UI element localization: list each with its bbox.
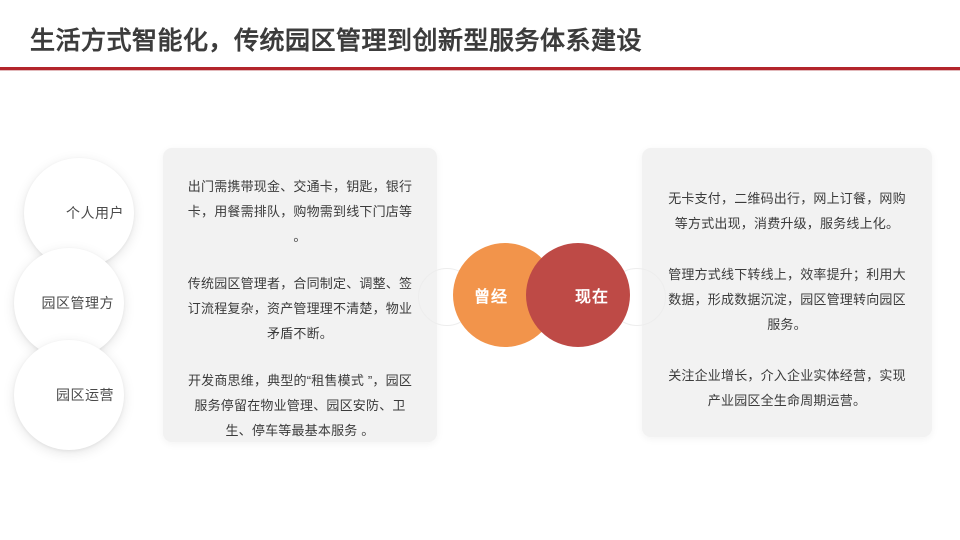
role-label: 园区运营	[56, 385, 114, 405]
role-label: 个人用户	[66, 203, 124, 223]
panel-now-paragraph: 管理方式线下转线上，效率提升；利用大数据，形成数据沉淀，园区管理转向园区服务。	[664, 262, 910, 337]
panel-past-paragraph: 出门需携带现金、交通卡，钥匙，银行卡，用餐需排队，购物需到线下门店等 。	[185, 174, 415, 249]
venn-circle-now[interactable]: 现在	[526, 243, 630, 347]
venn-label-past: 曾经	[474, 283, 508, 307]
role-circle-park-operation[interactable]: 园区运营	[14, 340, 124, 450]
panel-now-paragraph: 关注企业增长，介入企业实体经营，实现产业园区全生命周期运营。	[664, 363, 910, 413]
page-title: 生活方式智能化，传统园区管理到创新型服务体系建设	[30, 24, 642, 58]
panel-past-paragraph: 传统园区管理者，合同制定、调整、签订流程复杂，资产管理理不清楚，物业矛盾不断。	[185, 271, 415, 346]
role-label: 园区管理方	[42, 293, 115, 313]
title-divider-soft	[0, 70, 960, 71]
venn-label-now: 现在	[575, 283, 609, 307]
slide-canvas: 生活方式智能化，传统园区管理到创新型服务体系建设 个人用户 园区管理方 园区运营…	[0, 0, 960, 540]
panel-now-paragraph: 无卡支付，二维码出行，网上订餐，网购等方式出现，消费升级，服务线上化。	[664, 186, 910, 236]
panel-past-paragraph: 开发商思维，典型的“租售模式 ”，园区服务停留在物业管理、园区安防、卫生、停车等…	[185, 368, 415, 443]
panel-now: 无卡支付，二维码出行，网上订餐，网购等方式出现，消费升级，服务线上化。 管理方式…	[642, 148, 932, 437]
panel-past: 出门需携带现金、交通卡，钥匙，银行卡，用餐需排队，购物需到线下门店等 。 传统园…	[163, 148, 437, 442]
